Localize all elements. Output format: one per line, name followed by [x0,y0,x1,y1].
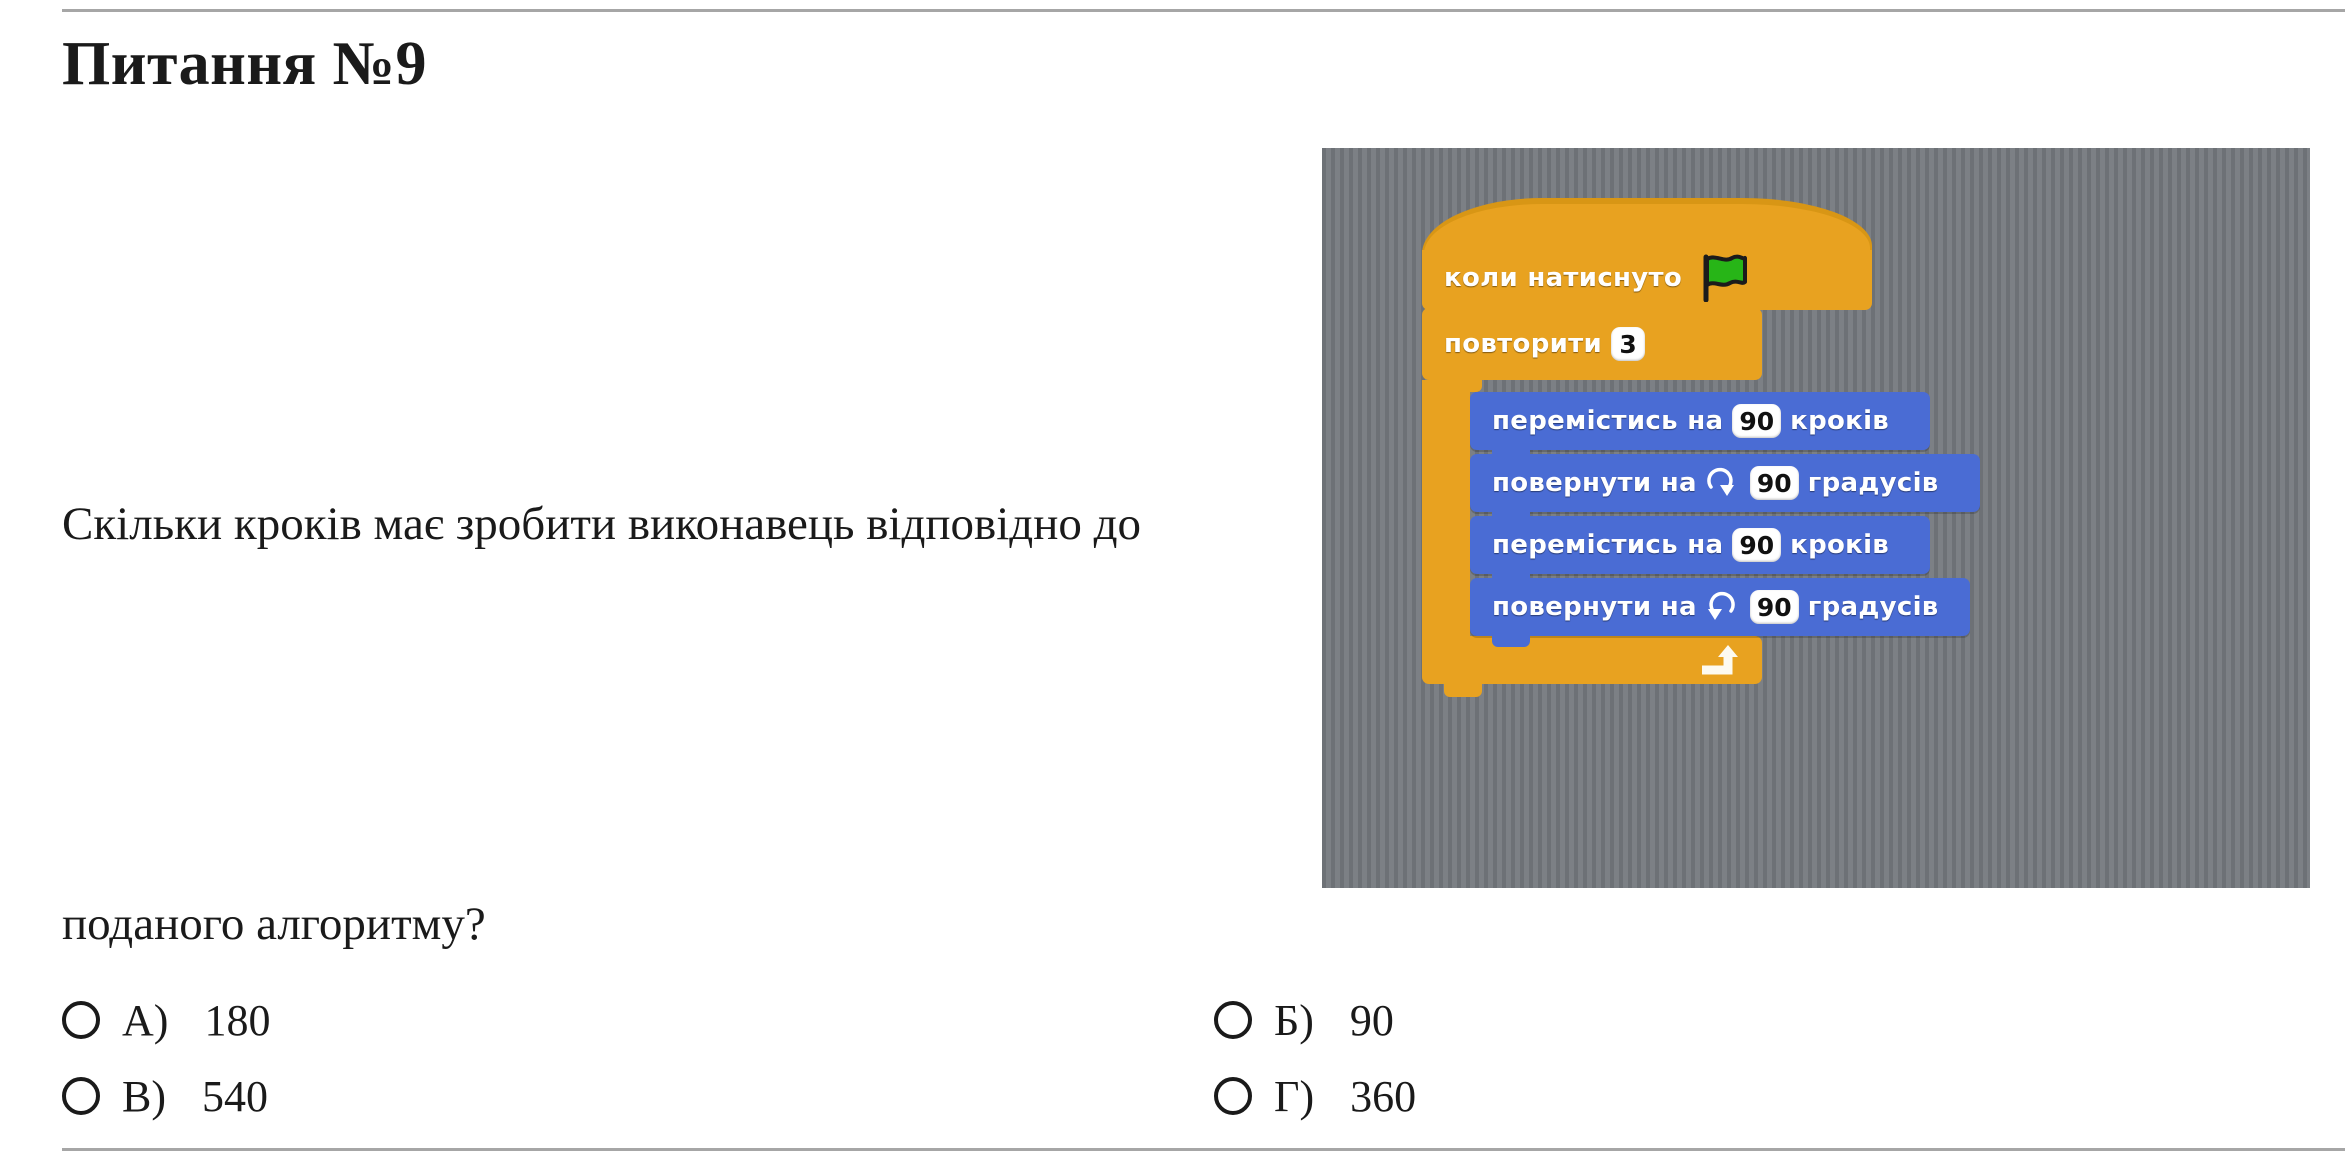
scratch-script: коли натиснуто повторити 3 перем [1422,192,1872,684]
answer-option-b-letter: Б) [1274,995,1314,1046]
turn-block-2-suffix: градусів [1808,592,1939,622]
answer-options: А) 180 Б) 90 В) 540 Г) 360 [62,985,1962,1137]
radio-button-g[interactable] [1214,1077,1252,1115]
turn-block-2-prefix: повернути на [1492,592,1697,622]
move-block-2-steps: 90 [1732,528,1781,562]
answer-option-a[interactable]: А) 180 [62,985,270,1055]
hat-block-label-group: коли натиснуто [1444,252,1748,304]
scratch-algorithm-image: коли натиснуто повторити 3 перем [1322,148,2310,888]
move-block-1-suffix: кроків [1790,406,1889,436]
radio-button-b[interactable] [1214,1001,1252,1039]
question-text-line-2: поданого алгоритму? [62,897,486,951]
move-block-2: перемістись на 90 кроків [1470,516,1930,574]
repeat-block-footer [1422,636,1762,684]
hat-block-label: коли натиснуто [1444,263,1682,293]
repeat-header-notch [1444,380,1482,392]
turn-counterclockwise-icon [1705,591,1737,623]
turn-block-2-degrees: 90 [1750,590,1799,624]
loop-arrow-icon [1698,643,1746,677]
scratch-hat-block: коли натиснуто [1422,192,1872,310]
repeat-block-arm [1422,380,1470,636]
question-text-line-1: Скільки кроків має зробити виконавець ві… [62,497,1141,551]
answer-option-b[interactable]: Б) 90 [1214,985,1394,1055]
page-title: Питання №9 [62,30,427,98]
radio-button-v[interactable] [62,1077,100,1115]
repeat-footer-notch [1444,684,1482,697]
top-divider [62,9,2345,12]
repeat-count-input: 3 [1611,327,1645,361]
answer-option-v[interactable]: В) 540 [62,1061,268,1131]
answer-option-a-value: 180 [204,995,270,1046]
answer-option-g[interactable]: Г) 360 [1214,1061,1416,1131]
radio-button-a[interactable] [62,1001,100,1039]
repeat-block-body: перемістись на 90 кроків повернути на 90… [1470,392,1980,640]
scratch-repeat-block: повторити 3 перемістись на 90 кроків пов… [1422,308,1762,684]
answer-option-g-letter: Г) [1274,1071,1314,1122]
move-block-2-suffix: кроків [1790,530,1889,560]
turn-block-1-degrees: 90 [1750,466,1799,500]
hat-top-inner-shape [1424,204,1870,256]
move-block-1-prefix: перемістись на [1492,406,1723,436]
turn-block-1-prefix: повернути на [1492,468,1697,498]
answer-option-b-value: 90 [1350,995,1394,1046]
turn-clockwise-icon [1705,467,1737,499]
repeat-block-label: повторити [1444,329,1602,359]
answer-option-g-value: 360 [1350,1071,1416,1122]
turn-block-1-suffix: градусів [1808,468,1939,498]
move-block-1: перемістись на 90 кроків [1470,392,1930,450]
green-flag-icon [1698,254,1748,302]
turn-block-1: повернути на 90 градусів [1470,454,1980,512]
hat-notch [1444,304,1482,316]
answer-option-a-letter: А) [122,995,168,1046]
answer-option-v-value: 540 [202,1071,268,1122]
move-block-1-steps: 90 [1732,404,1781,438]
repeat-block-header: повторити 3 [1422,308,1762,380]
turn-block-2: повернути на 90 градусів [1470,578,1970,636]
move-block-2-prefix: перемістись на [1492,530,1723,560]
answer-option-row-1: А) 180 Б) 90 [62,985,1962,1061]
bottom-divider [62,1148,2345,1151]
answer-option-row-2: В) 540 Г) 360 [62,1061,1962,1137]
answer-option-v-letter: В) [122,1071,166,1122]
